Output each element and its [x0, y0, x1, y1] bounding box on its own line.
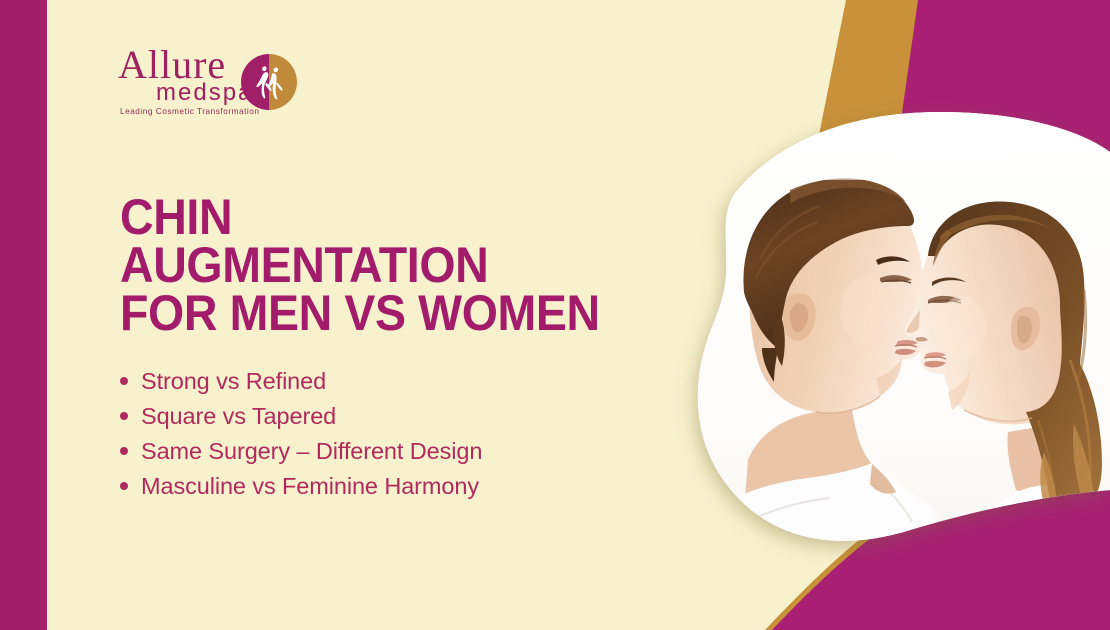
bullet-dot-icon — [120, 377, 128, 385]
logo-tagline: Leading Cosmetic Transformation — [120, 107, 259, 116]
headline-line-3: FOR MEN VS WOMEN — [120, 289, 600, 337]
bullet-dot-icon — [120, 412, 128, 420]
left-band-edge — [40, 0, 47, 630]
headline-line-2: AUGMENTATION — [120, 241, 600, 289]
photo-blob — [640, 60, 1110, 580]
page-title: CHIN AUGMENTATION FOR MEN VS WOMEN — [120, 193, 636, 337]
bullet-dot-icon — [120, 482, 128, 490]
list-item-label: Same Surgery – Different Design — [141, 437, 482, 466]
headline-line-1: CHIN — [120, 193, 600, 241]
logo-name-secondary: medspa — [156, 81, 253, 105]
two-dancing-figures-circle-icon — [241, 54, 297, 110]
list-item-label: Masculine vs Feminine Harmony — [141, 472, 479, 501]
feature-list: Strong vs Refined Square vs Tapered Same… — [120, 367, 482, 508]
list-item-label: Strong vs Refined — [141, 367, 326, 396]
list-item-label: Square vs Tapered — [141, 402, 336, 431]
bullet-dot-icon — [120, 447, 128, 455]
list-item: Masculine vs Feminine Harmony — [120, 472, 482, 501]
list-item: Same Surgery – Different Design — [120, 437, 482, 466]
list-item: Strong vs Refined — [120, 367, 482, 396]
promotional-banner: Allure medspa Leading Cosmetic Transform… — [0, 0, 1110, 630]
list-item: Square vs Tapered — [120, 402, 482, 431]
brand-logo[interactable]: Allure medspa Leading Cosmetic Transform… — [118, 45, 308, 125]
